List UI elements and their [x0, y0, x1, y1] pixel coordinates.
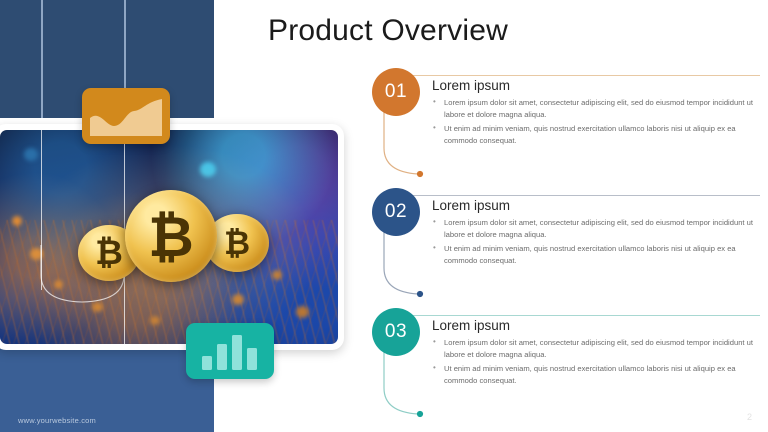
area-chart-icon	[90, 96, 162, 136]
slide-canvas: ₿ ₿ ₿ www.yourwebsite.com 2 Product Over…	[0, 0, 768, 432]
block-number-01: 01	[385, 81, 407, 103]
page-title: Product Overview	[268, 14, 508, 48]
list-item: Lorem ipsum dolor sit amet, consectetur …	[432, 217, 760, 242]
block-body-02: Lorem ipsum Lorem ipsum dolor sit amet, …	[432, 198, 760, 268]
block-divider-02	[400, 195, 760, 196]
bitcoin-photo: ₿ ₿ ₿	[0, 130, 338, 344]
product-image-card: ₿ ₿ ₿	[0, 124, 344, 350]
website-url[interactable]: www.yourwebsite.com	[18, 416, 96, 425]
block-bullets-02: Lorem ipsum dolor sit amet, consectetur …	[432, 217, 760, 267]
block-number-02: 02	[385, 201, 407, 223]
block-divider-01	[400, 75, 760, 76]
list-item: Ut enim ad minim veniam, quis nostrud ex…	[432, 243, 760, 268]
block-heading-01: Lorem ipsum	[432, 78, 760, 93]
list-item: Lorem ipsum dolor sit amet, consectetur …	[432, 97, 760, 122]
block-number-badge-02[interactable]: 02	[372, 188, 420, 236]
block-bullets-03: Lorem ipsum dolor sit amet, consectetur …	[432, 337, 760, 387]
block-body-03: Lorem ipsum Lorem ipsum dolor sit amet, …	[432, 318, 760, 388]
block-number-03: 03	[385, 321, 407, 343]
page-number: 2	[747, 412, 752, 422]
bar-chart-icon	[200, 332, 260, 370]
bar-chart-badge	[186, 323, 274, 379]
decor-vertical-line-1	[41, 0, 43, 118]
block-number-badge-03[interactable]: 03	[372, 308, 420, 356]
block-heading-02: Lorem ipsum	[432, 198, 760, 213]
area-chart-badge	[82, 88, 170, 144]
block-bullets-01: Lorem ipsum dolor sit amet, consectetur …	[432, 97, 760, 147]
block-heading-03: Lorem ipsum	[432, 318, 760, 333]
list-item: Ut enim ad minim veniam, quis nostrud ex…	[432, 363, 760, 388]
list-item: Ut enim ad minim veniam, quis nostrud ex…	[432, 123, 760, 148]
block-number-badge-01[interactable]: 01	[372, 68, 420, 116]
block-divider-03	[400, 315, 760, 316]
block-body-01: Lorem ipsum Lorem ipsum dolor sit amet, …	[432, 78, 760, 148]
decor-vertical-line-3	[41, 130, 42, 290]
bitcoin-coin-main: ₿	[125, 190, 217, 282]
list-item: Lorem ipsum dolor sit amet, consectetur …	[432, 337, 760, 362]
